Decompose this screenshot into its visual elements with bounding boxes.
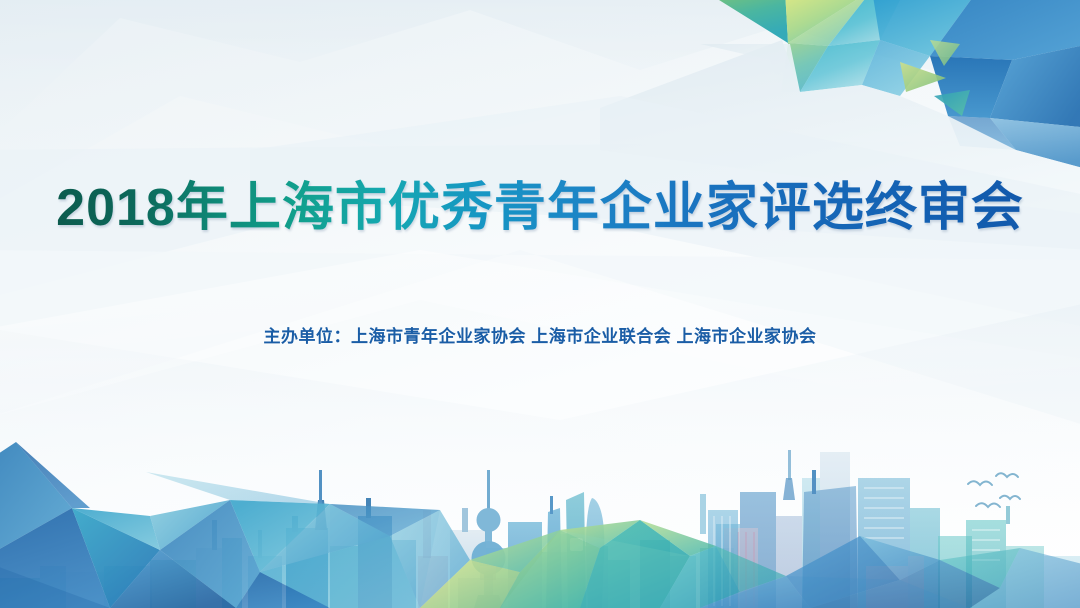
page-title: 2018年上海市优秀青年企业家评选终审会 [56,178,1024,239]
title-block: 2018年上海市优秀青年企业家评选终审会 [0,178,1080,239]
poster-canvas: 2018年上海市优秀青年企业家评选终审会 主办单位：上海市青年企业家协会 上海市… [0,0,1080,608]
foreground-sheen [0,0,1080,608]
subtitle-block: 主办单位：上海市青年企业家协会 上海市企业联合会 上海市企业家协会 [0,322,1080,347]
organizers-line: 主办单位：上海市青年企业家协会 上海市企业联合会 上海市企业家协会 [264,322,817,347]
